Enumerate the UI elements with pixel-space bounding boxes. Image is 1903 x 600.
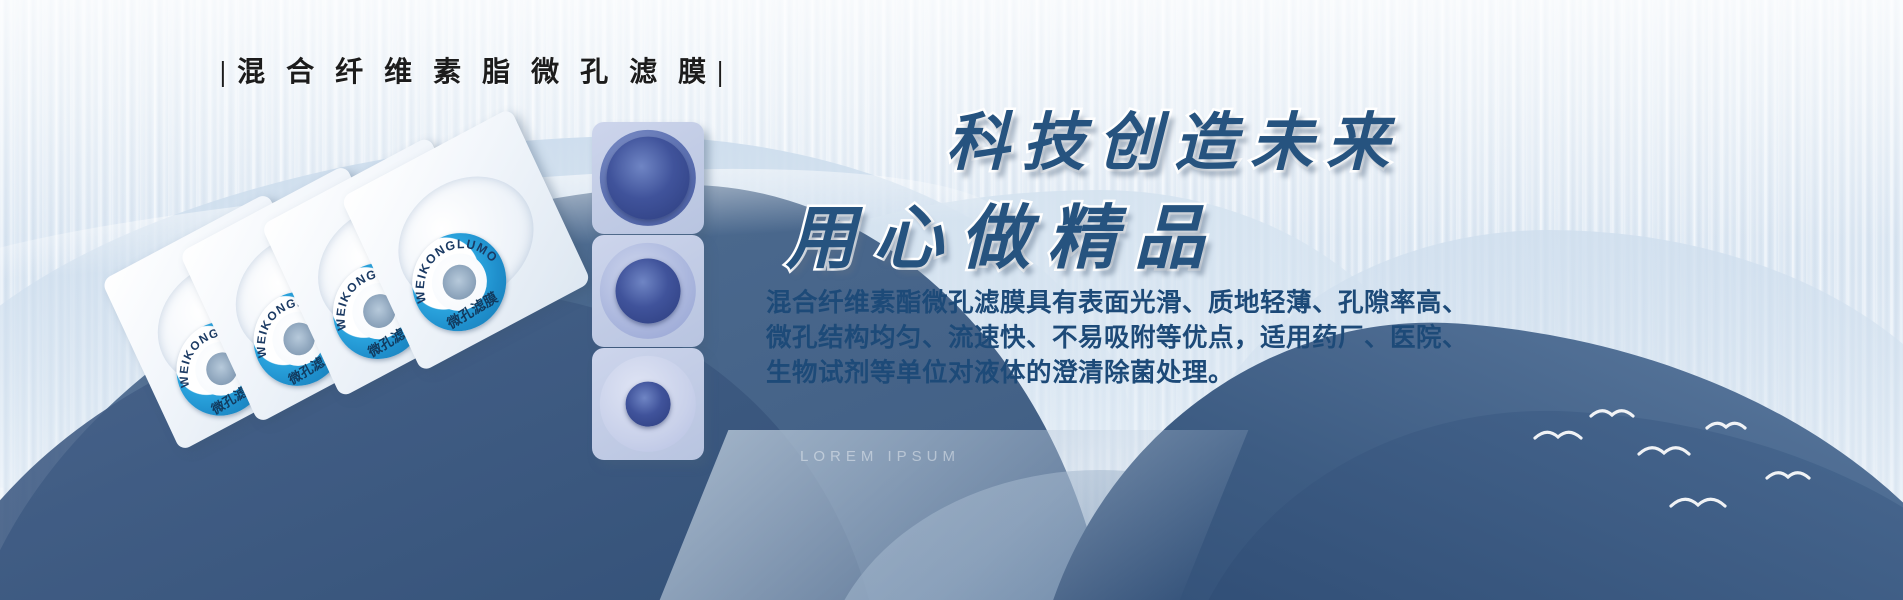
headline-line-2: 用心做精品 <box>786 182 1221 283</box>
kicker-text: 混 合 纤 维 素 脂 微 孔 滤 膜 <box>237 57 713 88</box>
kicker-title: |混 合 纤 维 素 脂 微 孔 滤 膜| <box>216 50 734 90</box>
filter-thumb-1 <box>592 122 704 234</box>
kicker-bar-left: | <box>216 57 237 88</box>
brand-emblem-icon <box>639 395 657 413</box>
thumb-label-3 <box>626 382 671 427</box>
description-line-3: 生物试剂等单位对液体的澄清除菌处理。 <box>766 355 1466 390</box>
brand-emblem-icon <box>631 161 664 194</box>
filter-thumb-2 <box>592 235 704 347</box>
product-pack-stack: WEIKONGLUMO 微孔滤膜 WEIKONGLUMO 微孔滤膜 <box>108 140 578 430</box>
watermark-text: LOREM IPSUM <box>800 448 960 465</box>
filter-thumb-3 <box>592 348 704 460</box>
headline-line-1: 科技创造未来 <box>946 92 1402 183</box>
thumb-label-1 <box>607 137 690 220</box>
description-line-1: 混合纤维素酯微孔滤膜具有表面光滑、质地轻薄、孔隙率高、 <box>766 285 1466 320</box>
thumb-label-2 <box>616 259 681 324</box>
description-paragraph: 混合纤维素酯微孔滤膜具有表面光滑、质地轻薄、孔隙率高、 微孔结构均匀、流速快、不… <box>766 285 1466 390</box>
kicker-bar-right: | <box>713 57 734 88</box>
brand-emblem-icon <box>635 278 661 304</box>
promo-banner: |混 合 纤 维 素 脂 微 孔 滤 膜| WEIKONGLUMO 微孔滤膜 <box>0 0 1903 600</box>
description-line-2: 微孔结构均匀、流速快、不易吸附等优点，适用药厂、医院、 <box>766 320 1466 355</box>
product-thumbnail-column <box>592 122 732 452</box>
